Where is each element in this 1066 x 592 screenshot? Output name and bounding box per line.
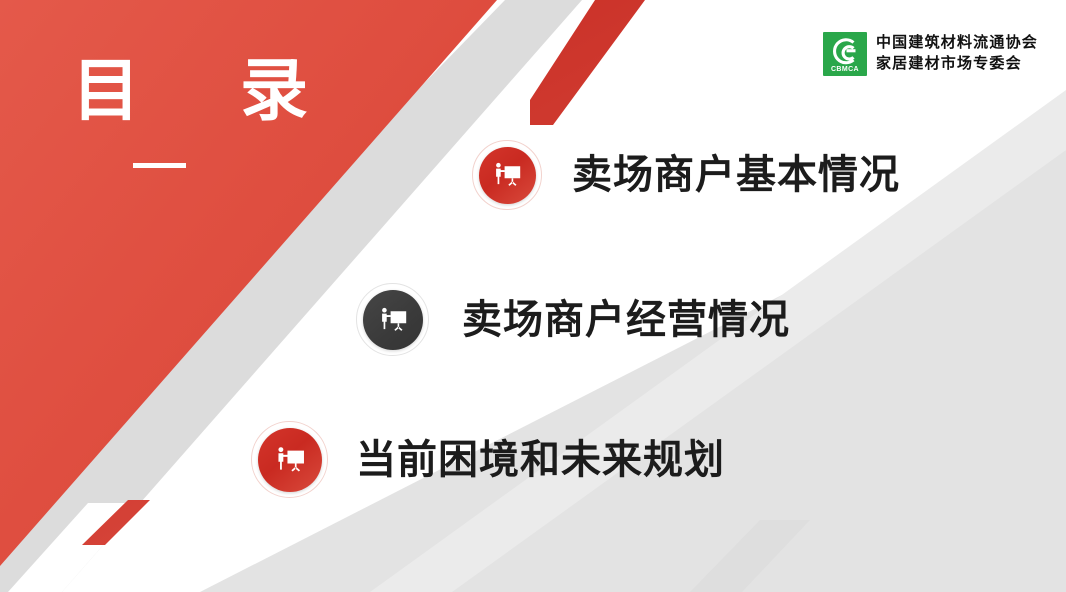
presentation-board-icon	[258, 428, 322, 492]
agenda-item-label-1: 卖场商户基本情况	[572, 155, 900, 195]
agenda-icon-ring-3	[251, 421, 328, 498]
agenda-icon-ring-2	[356, 283, 429, 356]
organization-logo: CBMCA 中国建筑材料流通协会 家居建材市场专委会	[823, 32, 1038, 76]
slide-canvas: 目 录 CBMCA 中国建筑材料流通协会 家居建材市场专委会	[0, 0, 1066, 592]
agenda-icon-ring-1	[472, 140, 542, 210]
agenda-item-1[interactable]: 卖场商户基本情况	[472, 140, 900, 210]
presentation-board-icon	[479, 147, 536, 204]
presentation-board-icon	[363, 290, 423, 350]
page-title-text: 目 录	[72, 57, 402, 125]
agenda-item-3[interactable]: 当前困境和未来规划	[251, 421, 725, 498]
page-title: 目 录	[72, 57, 402, 125]
cbmca-logo-wordmark: CBMCA	[823, 66, 867, 73]
organization-name-line2: 家居建材市场专委会	[876, 55, 1038, 74]
cbmca-logo-icon: CBMCA	[823, 32, 867, 76]
agenda-item-label-2: 卖场商户经营情况	[462, 300, 790, 340]
organization-name: 中国建筑材料流通协会 家居建材市场专委会	[876, 34, 1038, 74]
agenda-item-label-3: 当前困境和未来规划	[356, 440, 725, 480]
organization-name-line1: 中国建筑材料流通协会	[876, 34, 1038, 53]
title-underline	[133, 163, 186, 168]
agenda-item-2[interactable]: 卖场商户经营情况	[356, 283, 790, 356]
